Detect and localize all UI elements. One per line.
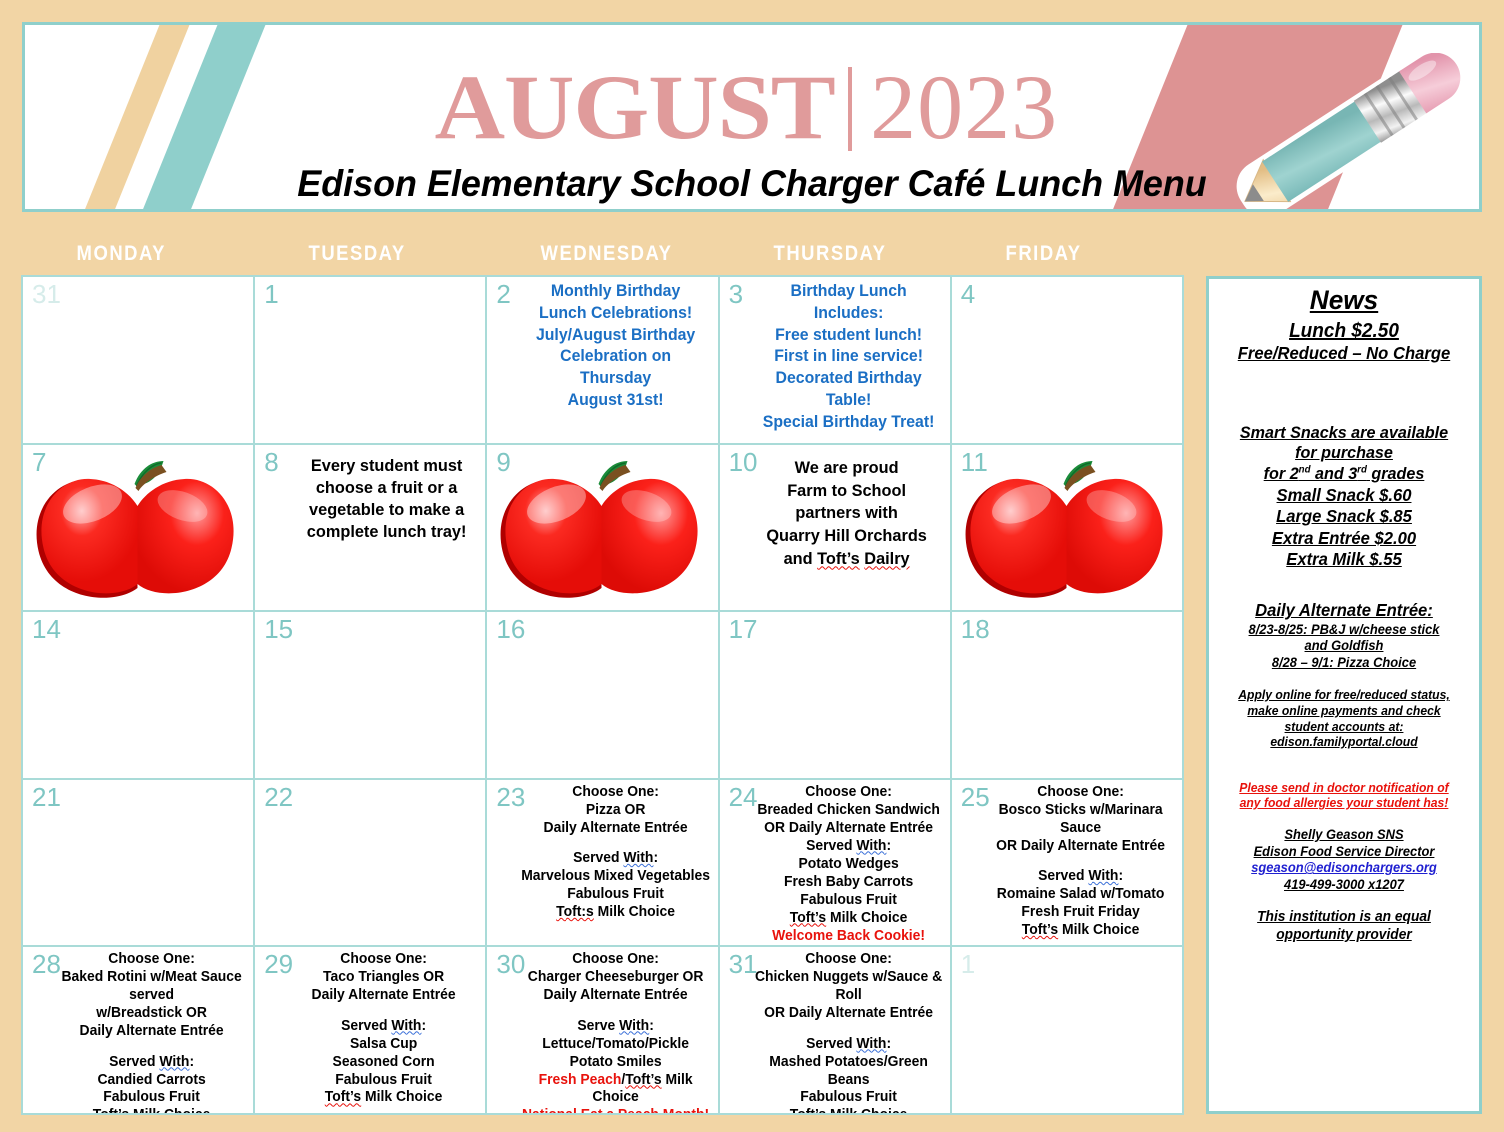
menu-line: Decorated Birthday Table!: [775, 369, 921, 409]
menu-text-line: Daily Alternate Entrée: [521, 987, 710, 1005]
menu-line: Marvelous Mixed Vegetables: [522, 868, 711, 884]
menu-line-spacer: [986, 856, 1175, 868]
smart-snacks-grades: for 2nd and 3rd grades: [1223, 464, 1464, 485]
menu-line: Served: [109, 1054, 159, 1070]
menu-text-line: Choose One:: [754, 951, 943, 969]
menu-line-highlight: National Eat a Peach Month!: [522, 1107, 709, 1115]
menu-text-line: choose a fruit or a: [295, 477, 479, 499]
menu-line: Fabulous Fruit: [568, 886, 665, 902]
menu-text-line: Romaine Salad w/Tomato: [986, 886, 1175, 904]
menu-line: Milk Choice: [826, 1107, 907, 1115]
weekday-monday: MONDAY: [22, 233, 226, 275]
menu-line: August 31st!: [568, 391, 664, 409]
menu-text-line: Choose One:: [521, 951, 710, 969]
contact-title: Edison Food Service Director: [1223, 844, 1464, 861]
apple-icon: [495, 456, 710, 606]
day-number: 28: [32, 950, 61, 979]
menu-line: Served: [806, 1036, 856, 1052]
menu-line: Romaine Salad w/Tomato: [997, 886, 1165, 902]
menu-line: Chicken Nuggets w/Sauce & Roll: [755, 969, 942, 1003]
menu-line: w/Breadstick OR: [96, 1005, 207, 1021]
contact-email-link[interactable]: sgeason@edisonchargers.org: [1223, 860, 1464, 877]
menu-line: Daily Alternate Entrée: [544, 820, 688, 836]
year-label: 2023: [870, 61, 1058, 153]
calendar-day-cell[interactable]: 23Choose One:Pizza ORDaily Alternate Ent…: [485, 778, 719, 948]
menu-line: Baked Rotini w/Meat Sauce served: [61, 969, 241, 1003]
menu-text-line: vegetable to make a: [295, 499, 479, 521]
menu-line-spacer: [521, 1005, 710, 1017]
calendar-day-cell[interactable]: 31Choose One:Chicken Nuggets w/Sauce & R…: [718, 945, 952, 1115]
menu-line: Fabulous Fruit: [800, 892, 897, 908]
apply-online-line1: Apply online for free/reduced status,: [1223, 687, 1464, 703]
menu-text-line: Bosco Sticks w/Marinara Sauce: [986, 802, 1175, 838]
equal-opportunity-line1: This institution is an equal: [1223, 909, 1464, 927]
alt-entree-heading: Daily Alternate Entrée:: [1223, 600, 1464, 621]
menu-text-line: Served With:: [754, 1036, 943, 1054]
menu-line: partners with: [795, 503, 897, 522]
menu-line: Celebration on: [561, 347, 672, 365]
calendar-day-cell[interactable]: 24Choose One:Breaded Chicken SandwichOR …: [718, 778, 952, 948]
menu-text-line: Potato Wedges: [754, 856, 943, 874]
calendar-day-cell[interactable]: 3Birthday Lunch Includes:Free student lu…: [718, 275, 952, 445]
day-number: 1: [264, 280, 278, 309]
apple-icon: [31, 456, 246, 606]
day-number: 16: [496, 615, 525, 644]
menu-line: Taco Triangles OR: [323, 969, 444, 985]
alt-entree-line2: and Goldfish: [1223, 638, 1464, 655]
menu-line: With: [856, 838, 886, 854]
menu-text-line: Potato Smiles: [521, 1054, 710, 1072]
menu-text-line: Pizza OR: [521, 802, 710, 820]
calendar-day-cell[interactable]: 17: [718, 610, 952, 780]
lunch-price: Lunch $2.50: [1223, 319, 1464, 343]
day-menu-text: Choose One:Taco Triangles ORDaily Altern…: [289, 951, 478, 1107]
menu-text-line: Fresh Baby Carrots: [754, 874, 943, 892]
smart-snacks-line2: for purchase: [1223, 443, 1464, 464]
menu-line: Milk Choice: [361, 1089, 442, 1105]
apply-online-line3: student accounts at:: [1223, 719, 1464, 735]
menu-line: Serve: [578, 1018, 620, 1034]
menu-text-line: July/August Birthday: [521, 325, 710, 347]
menu-line-highlight: Welcome Back Cookie!: [772, 928, 925, 944]
menu-line: Farm to School: [787, 481, 906, 500]
menu-line: :: [650, 1018, 655, 1034]
menu-text-line: Served With:: [57, 1054, 246, 1072]
day-number: 1: [961, 950, 975, 979]
menu-text-line: Special Birthday Treat!: [754, 412, 943, 434]
menu-line: Toft’s: [789, 1107, 825, 1115]
day-menu-text: Choose One:Charger Cheeseburger ORDaily …: [521, 951, 710, 1115]
alt-entree-line1: 8/23-8/25: PB&J w/cheese stick: [1223, 622, 1464, 639]
menu-line: Candied Carrots: [97, 1072, 205, 1088]
menu-line: Choose One:: [573, 784, 660, 800]
menu-text-line: Seasoned Corn: [289, 1054, 478, 1072]
calendar-day-cell[interactable]: 1: [950, 945, 1184, 1115]
menu-line: OR Daily Alternate Entrée: [996, 838, 1165, 854]
menu-text-line: w/Breadstick OR: [57, 1005, 246, 1023]
menu-line: Charger Cheeseburger OR: [528, 969, 704, 985]
calendar-day-cell[interactable]: 31: [21, 275, 255, 445]
menu-text-line: Choose One:: [754, 784, 943, 802]
spacer-2: [1217, 570, 1471, 600]
apply-online-line2: make online payments and check: [1223, 703, 1464, 719]
menu-line: Potato Wedges: [798, 856, 898, 872]
menu-line: OR Daily Alternate Entrée: [764, 820, 933, 836]
calendar-day-cell[interactable]: 9: [485, 443, 719, 613]
menu-line-spacer: [289, 1005, 478, 1017]
menu-text-line: Fabulous Fruit: [754, 892, 943, 910]
menu-line: Served: [806, 838, 856, 854]
menu-line: With: [1088, 868, 1118, 884]
day-number: 31: [32, 280, 61, 309]
menu-line: Served: [341, 1018, 391, 1034]
weekday-wednesday: WEDNESDAY: [486, 233, 690, 275]
menu-line: Milk Choice: [826, 910, 907, 926]
menu-line: Pizza OR: [586, 802, 646, 818]
menu-text-line: OR Daily Alternate Entrée: [754, 1005, 943, 1023]
menu-text-line: Monthly Birthday: [521, 281, 710, 303]
menu-line: Every student must: [311, 456, 462, 475]
day-menu-text: Choose One:Baked Rotini w/Meat Sauce ser…: [57, 951, 246, 1115]
spacer-5: [1217, 811, 1471, 827]
menu-line: First in line service!: [774, 347, 923, 365]
menu-line: Daily Alternate Entrée: [80, 1023, 224, 1039]
menu-text-line: Serve With:: [521, 1018, 710, 1036]
menu-line: :: [654, 850, 659, 866]
menu-text-line: Fabulous Fruit: [521, 886, 710, 904]
menu-line: Quarry Hill Orchards: [766, 526, 927, 545]
menu-text-line: First in line service!: [754, 346, 943, 368]
menu-line: Milk Choice: [129, 1107, 210, 1115]
day-number: 23: [496, 783, 525, 812]
menu-line: Toft’s: [789, 910, 825, 926]
day-number: 4: [961, 280, 975, 309]
calendar-grid: 3112Monthly BirthdayLunch Celebrations!J…: [22, 276, 1183, 1114]
large-snack-price: Large Snack $.85: [1223, 506, 1464, 527]
menu-line: Toft:s: [557, 904, 595, 920]
day-menu-text: Birthday Lunch Includes:Free student lun…: [754, 281, 943, 433]
menu-text-line: Toft:s Milk Choice: [521, 904, 710, 922]
menu-line: Toft’s: [325, 1089, 361, 1105]
menu-line: Choose One:: [108, 951, 195, 967]
day-menu-text: Choose One:Pizza ORDaily Alternate Entré…: [521, 784, 710, 922]
menu-text-line: Choose One:: [57, 951, 246, 969]
calendar-day-cell[interactable]: 30Choose One:Charger Cheeseburger ORDail…: [485, 945, 719, 1115]
weekday-tuesday: TUESDAY: [254, 233, 458, 275]
day-number: 15: [264, 615, 293, 644]
menu-text-line: Served With:: [754, 838, 943, 856]
day-number: 24: [729, 783, 758, 812]
menu-text-line: Toft’s Milk Choice: [754, 1107, 943, 1115]
menu-text-line: Free student lunch!: [754, 325, 943, 347]
day-number: 11: [961, 448, 988, 477]
menu-line: :: [886, 838, 891, 854]
extra-entree-price: Extra Entrée $2.00: [1223, 528, 1464, 549]
weekday-friday: FRIDAY: [951, 233, 1155, 275]
menu-line: Lettuce/Tomato/Pickle: [543, 1036, 690, 1052]
calendar-day-cell[interactable]: 4: [950, 275, 1184, 445]
menu-text-line: Choose One:: [289, 951, 478, 969]
day-menu-text: Choose One:Bosco Sticks w/Marinara Sauce…: [986, 784, 1175, 940]
family-portal-url[interactable]: edison.familyportal.cloud: [1223, 734, 1464, 750]
menu-line: Fresh Fruit Friday: [1021, 904, 1139, 920]
day-menu-text: Every student mustchoose a fruit or aveg…: [295, 455, 479, 543]
equal-opportunity-line2: opportunity provider: [1223, 927, 1464, 945]
menu-text-line: Candied Carrots: [57, 1072, 246, 1090]
menu-line: :: [1118, 868, 1123, 884]
menu-text-line: August 31st!: [521, 390, 710, 412]
menu-line: Mashed Potatoes/Green Beans: [769, 1054, 928, 1088]
menu-text-line: Served With:: [521, 850, 710, 868]
menu-line: Milk Choice: [594, 904, 675, 920]
menu-line-spacer: [754, 1023, 943, 1035]
news-heading: News: [1221, 285, 1467, 316]
menu-line: Fabulous Fruit: [103, 1089, 200, 1105]
menu-line: complete lunch tray!: [307, 522, 467, 541]
menu-line: :: [422, 1018, 427, 1034]
day-number: 14: [32, 615, 61, 644]
menu-text-line: Farm to School: [750, 480, 943, 503]
day-number: 2: [496, 280, 510, 309]
apple-icon: [959, 456, 1174, 606]
menu-line: Birthday Lunch Includes:: [790, 282, 906, 322]
menu-line: Choose One:: [805, 951, 892, 967]
menu-text-line: Quarry Hill Orchards: [750, 525, 943, 548]
calendar-day-cell[interactable]: 14: [21, 610, 255, 780]
menu-text-line: Fabulous Fruit: [289, 1072, 478, 1090]
menu-text-line: Daily Alternate Entrée: [289, 987, 478, 1005]
calendar-day-cell[interactable]: 16: [485, 610, 719, 780]
calendar-day-cell[interactable]: 10We are proudFarm to Schoolpartners wit…: [718, 443, 952, 613]
spacer-4: [1217, 750, 1471, 780]
allergy-notice-line2: any food allergies your student has!: [1223, 795, 1464, 811]
calendar-day-cell[interactable]: 29Choose One:Taco Triangles ORDaily Alte…: [253, 945, 487, 1115]
menu-line: We are proud: [794, 458, 898, 477]
menu-line: With: [856, 1036, 886, 1052]
weekday-thursday: THURSDAY: [719, 233, 923, 275]
menu-line: [859, 549, 864, 568]
calendar-day-cell[interactable]: 22: [253, 778, 487, 948]
spacer-3: [1217, 671, 1471, 687]
day-number: 21: [32, 783, 61, 812]
menu-text-line: Baked Rotini w/Meat Sauce served: [57, 969, 246, 1005]
menu-text-line: Welcome Back Cookie!: [754, 928, 943, 946]
small-snack-price: Small Snack $.60: [1223, 485, 1464, 506]
menu-line: and: [783, 549, 817, 568]
calendar-day-cell[interactable]: 7: [21, 443, 255, 613]
calendar-day-cell[interactable]: 25Choose One:Bosco Sticks w/Marinara Sau…: [950, 778, 1184, 948]
menu-text-line: Fabulous Fruit: [754, 1089, 943, 1107]
menu-line-highlight: Fresh Peach: [539, 1072, 622, 1088]
header-banner: AUGUST 2023 Edison Elementary School Cha…: [22, 22, 1482, 212]
calendar-day-cell[interactable]: 11: [950, 443, 1184, 613]
day-menu-text: Monthly BirthdayLunch Celebrations!July/…: [521, 281, 710, 412]
menu-text-line: Breaded Chicken Sandwich: [754, 802, 943, 820]
menu-line: :: [886, 1036, 891, 1052]
menu-line: Choose One:: [805, 784, 892, 800]
allergy-notice-line1: Please send in doctor notification of: [1223, 780, 1464, 796]
menu-text-line: Choose One:: [521, 784, 710, 802]
menu-line: Served: [1038, 868, 1088, 884]
menu-line: Served: [573, 850, 623, 866]
menu-text-line: Birthday Lunch Includes:: [754, 281, 943, 325]
menu-subtitle: Edison Elementary School Charger Café Lu…: [47, 163, 1457, 205]
menu-line: Free student lunch!: [775, 326, 922, 344]
menu-line-spacer: [521, 838, 710, 850]
menu-line: Fabulous Fruit: [335, 1072, 432, 1088]
menu-text-line: Charger Cheeseburger OR: [521, 969, 710, 987]
menu-line: With: [620, 1018, 650, 1034]
news-sidebar: News Lunch $2.50 Free/Reduced – No Charg…: [1206, 276, 1482, 1114]
menu-text-line: We are proud: [750, 457, 943, 480]
menu-line: Bosco Sticks w/Marinara Sauce: [998, 802, 1162, 836]
spacer-6: [1217, 893, 1471, 909]
menu-line: With: [392, 1018, 422, 1034]
day-number: 22: [264, 783, 293, 812]
day-number: 8: [264, 448, 278, 477]
menu-text-line: Celebration on: [521, 346, 710, 368]
extra-milk-price: Extra Milk $.55: [1223, 549, 1464, 570]
contact-name: Shelly Geason SNS: [1223, 827, 1464, 844]
menu-text-line: Choose One:: [986, 784, 1175, 802]
menu-line: Seasoned Corn: [333, 1054, 435, 1070]
menu-line: Breaded Chicken Sandwich: [757, 802, 940, 818]
menu-text-line: Decorated Birthday Table!: [754, 368, 943, 412]
menu-line: Daily Alternate Entrée: [544, 987, 688, 1003]
calendar-day-cell[interactable]: 2Monthly BirthdayLunch Celebrations!July…: [485, 275, 719, 445]
menu-text-line: Taco Triangles OR: [289, 969, 478, 987]
calendar-day-cell[interactable]: 15: [253, 610, 487, 780]
menu-text-line: Fresh Fruit Friday: [986, 904, 1175, 922]
day-menu-text: Choose One:Chicken Nuggets w/Sauce & Rol…: [754, 951, 943, 1115]
smart-snacks-line1: Smart Snacks are available: [1223, 423, 1464, 444]
free-reduced-note: Free/Reduced – No Charge: [1223, 343, 1464, 364]
menu-line: Toft’s: [93, 1107, 129, 1115]
menu-text-line: Served With:: [986, 868, 1175, 886]
menu-text-line: Toft’s Milk Choice: [57, 1107, 246, 1115]
menu-line: Choose One:: [573, 951, 660, 967]
menu-text-line: Toft’s Milk Choice: [289, 1089, 478, 1107]
day-number: 3: [729, 280, 743, 309]
menu-line: Special Birthday Treat!: [762, 413, 934, 431]
day-number: 17: [729, 615, 758, 644]
menu-line: Toft’s: [817, 549, 860, 568]
day-number: 30: [496, 950, 525, 979]
menu-line: Salsa Cup: [350, 1036, 417, 1052]
menu-line: vegetable to make a: [309, 500, 464, 519]
menu-text-line: Daily Alternate Entrée: [57, 1023, 246, 1041]
menu-line: Dailry: [864, 549, 909, 568]
menu-text-line: Lunch Celebrations!: [521, 303, 710, 325]
menu-line: With: [624, 850, 654, 866]
menu-line: Choose One:: [340, 951, 427, 967]
menu-text-line: Marvelous Mixed Vegetables: [521, 868, 710, 886]
day-number: 10: [729, 448, 758, 477]
menu-line: Milk Choice: [1058, 922, 1139, 938]
weekday-header-row: MONDAY TUESDAY WEDNESDAY THURSDAY FRIDAY: [22, 233, 1183, 275]
day-menu-text: We are proudFarm to Schoolpartners withQ…: [750, 457, 943, 572]
menu-line: :: [189, 1054, 194, 1070]
day-number: 25: [961, 783, 990, 812]
menu-line: Toft’s: [626, 1072, 662, 1088]
menu-text-line: complete lunch tray!: [295, 521, 479, 543]
menu-line: Daily Alternate Entrée: [312, 987, 456, 1003]
menu-text-line: Mashed Potatoes/Green Beans: [754, 1054, 943, 1090]
menu-line: Choose One:: [1037, 784, 1124, 800]
calendar-day-cell[interactable]: 28Choose One:Baked Rotini w/Meat Sauce s…: [21, 945, 255, 1115]
menu-line: July/August Birthday: [536, 326, 695, 344]
spacer-1: [1217, 365, 1471, 423]
calendar-day-cell[interactable]: 21: [21, 778, 255, 948]
menu-text-line: Chicken Nuggets w/Sauce & Roll: [754, 969, 943, 1005]
menu-line: Monthly Birthday: [551, 282, 680, 300]
title-divider: [848, 67, 852, 151]
menu-line: Toft’s: [1022, 922, 1058, 938]
menu-line-spacer: [57, 1041, 246, 1053]
day-number: 18: [961, 615, 990, 644]
menu-text-line: OR Daily Alternate Entrée: [986, 838, 1175, 856]
day-number: 31: [729, 950, 758, 979]
month-year-title: AUGUST 2023: [25, 61, 1479, 153]
menu-line: choose a fruit or a: [316, 478, 457, 497]
menu-line: OR Daily Alternate Entrée: [764, 1005, 933, 1021]
menu-line: Fabulous Fruit: [800, 1089, 897, 1105]
day-number: 9: [496, 448, 510, 477]
menu-text-line: Lettuce/Tomato/Pickle: [521, 1036, 710, 1054]
menu-text-line: Served With:: [289, 1018, 478, 1036]
menu-line: Potato Smiles: [570, 1054, 662, 1070]
menu-text-line: and Toft’s Dailry: [750, 548, 943, 571]
menu-text-line: Salsa Cup: [289, 1036, 478, 1054]
menu-text-line: OR Daily Alternate Entrée: [754, 820, 943, 838]
menu-line: With: [159, 1054, 189, 1070]
menu-text-line: National Eat a Peach Month!: [521, 1107, 710, 1115]
calendar-day-cell[interactable]: 18: [950, 610, 1184, 780]
menu-text-line: Fresh Peach/Toft’s Milk Choice: [521, 1072, 710, 1108]
menu-text-line: Daily Alternate Entrée: [521, 820, 710, 838]
month-name: AUGUST: [435, 61, 835, 153]
day-number: 29: [264, 950, 293, 979]
menu-text-line: Fabulous Fruit: [57, 1089, 246, 1107]
menu-text-line: Thursday: [521, 368, 710, 390]
menu-text-line: Toft’s Milk Choice: [986, 922, 1175, 940]
menu-text-line: Every student must: [295, 455, 479, 477]
day-menu-text: Choose One:Breaded Chicken SandwichOR Da…: [754, 784, 943, 946]
calendar-day-cell[interactable]: 8Every student mustchoose a fruit or ave…: [253, 443, 487, 613]
contact-phone: 419-499-3000 x1207: [1223, 877, 1464, 894]
menu-line: Fresh Baby Carrots: [784, 874, 913, 890]
menu-text-line: partners with: [750, 502, 943, 525]
alt-entree-line3: 8/28 – 9/1: Pizza Choice: [1223, 655, 1464, 672]
menu-line: Lunch Celebrations!: [539, 304, 692, 322]
menu-line: Thursday: [580, 369, 651, 387]
menu-text-line: Toft’s Milk Choice: [754, 910, 943, 928]
day-number: 7: [32, 448, 46, 477]
calendar-day-cell[interactable]: 1: [253, 275, 487, 445]
